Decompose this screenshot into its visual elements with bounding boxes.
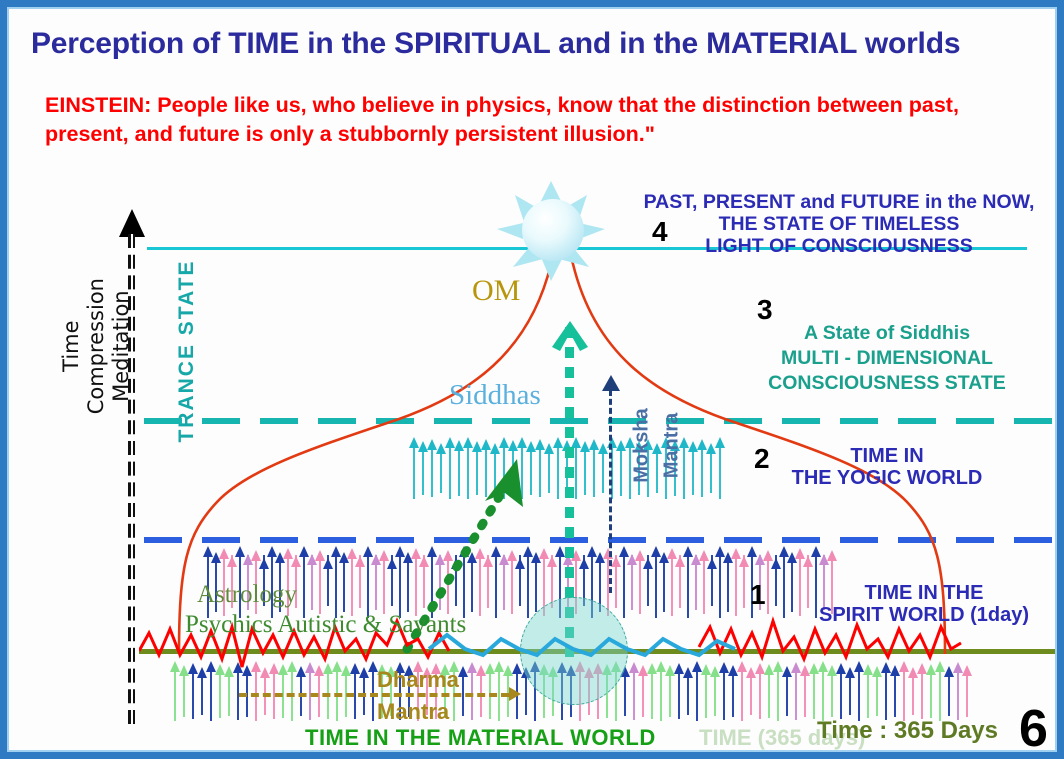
- om-label: OM: [472, 274, 520, 308]
- time-tick: [813, 670, 815, 719]
- level-4-line3: LIGHT OF CONSCIOUSNESS: [609, 236, 1057, 258]
- level-4-label: PAST, PRESENT and FUTURE in the NOW, THE…: [609, 192, 1057, 257]
- time-tick: [804, 670, 806, 717]
- time-tick: [885, 670, 887, 720]
- time-tick: [192, 670, 194, 719]
- mantra-vertical-label: Mantra: [661, 391, 684, 501]
- level-1-label: TIME IN THE SPIRIT WORLD (1day): [789, 582, 1057, 627]
- time-tick: [660, 670, 662, 721]
- time-tick: [651, 670, 653, 719]
- level-4-number: 4: [652, 216, 668, 248]
- time-tick: [696, 670, 698, 721]
- time-tick: [921, 670, 923, 719]
- level-2-label: TIME IN THE YOGIC WORLD: [757, 445, 1017, 490]
- level-3-line1: A State of Siddhis: [727, 321, 1047, 346]
- psychics-savants-label: Psychics Autistic & Savants: [185, 611, 466, 639]
- astrology-label: Astrology: [197, 581, 297, 609]
- slide-frame: Perception of TIME in the SPIRITUAL and …: [0, 0, 1064, 759]
- moksha-arrow-head-icon: [550, 321, 590, 355]
- time-tick: [183, 670, 185, 717]
- level-1-number: 1: [750, 579, 766, 611]
- level-4-line2: THE STATE OF TIMELESS: [609, 214, 1057, 236]
- mantra-arrow-head-icon: [602, 375, 622, 393]
- time-tick: [957, 670, 959, 720]
- level-3-line2: MULTI - DIMENSIONAL: [727, 346, 1047, 371]
- dharma-dashed-path: [239, 693, 509, 697]
- slide-number: 6: [1019, 699, 1048, 752]
- time-tick: [858, 670, 860, 721]
- level-1-line1: TIME IN THE: [789, 582, 1057, 604]
- time-tick: [822, 670, 824, 721]
- sun-core-icon: [522, 199, 584, 261]
- time-tick: [669, 670, 671, 717]
- time-tick: [219, 670, 221, 718]
- time-tick: [903, 670, 905, 721]
- sun-group: [9, 9, 1057, 309]
- time-tick: [930, 670, 932, 718]
- level-3-line3: CONSCIOUSNESS STATE: [727, 371, 1047, 396]
- level-3-label: A State of Siddhis MULTI - DIMENSIONAL C…: [727, 321, 1047, 396]
- mantra-dashed-axis: [609, 381, 612, 593]
- level-1-line2: SPIRIT WORLD (1day): [789, 604, 1057, 626]
- slide-canvas: Perception of TIME in the SPIRITUAL and …: [7, 7, 1057, 752]
- time-days-label: Time : 365 Days: [817, 717, 998, 745]
- time-tick: [732, 670, 734, 717]
- time-tick: [867, 670, 869, 718]
- dharma-arrow-head-icon: [509, 687, 521, 701]
- siddhas-label: Siddhas: [449, 379, 541, 412]
- level-2-number: 2: [754, 443, 770, 475]
- material-world-label: TIME IN THE MATERIAL WORLD: [305, 725, 656, 751]
- level-2-line2: THE YOGIC WORLD: [757, 467, 1017, 489]
- time-tick: [642, 670, 644, 717]
- time-tick: [831, 670, 833, 717]
- time-tick: [795, 670, 797, 720]
- level-3-number: 3: [757, 294, 773, 326]
- time-tick: [759, 670, 761, 719]
- level-2-line1: TIME IN: [757, 445, 1017, 467]
- time-tick: [840, 670, 842, 719]
- dharma-label: Dharma: [377, 667, 459, 693]
- time-tick: [768, 670, 770, 718]
- time-tick: [633, 670, 635, 720]
- time-tick: [741, 670, 743, 721]
- time-tick: [210, 670, 212, 721]
- time-tick: [174, 670, 176, 721]
- spirit-world-wave: [429, 635, 735, 655]
- time-tick: [939, 670, 941, 721]
- time-tick: [894, 670, 896, 717]
- level-4-line1: PAST, PRESENT and FUTURE in the NOW,: [609, 192, 1057, 214]
- time-tick: [723, 670, 725, 720]
- time-tick: [777, 670, 779, 721]
- time-tick: [705, 670, 707, 718]
- time-tick: [966, 670, 968, 717]
- moksha-vertical-label: Moksha: [631, 391, 654, 501]
- time-tick: [678, 670, 680, 719]
- mantra-bottom-label: Mantra: [377, 699, 449, 725]
